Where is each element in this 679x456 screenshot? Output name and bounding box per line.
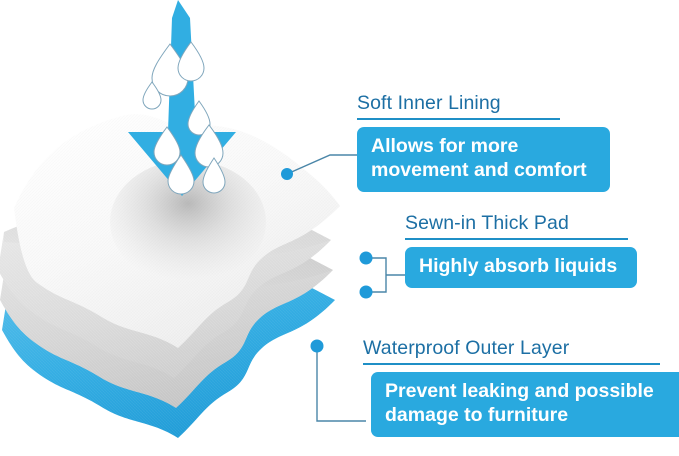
connector-dot bbox=[360, 286, 373, 299]
callout-heading-soft-inner-lining: Soft Inner Lining bbox=[357, 92, 610, 118]
callout-waterproof-outer-layer: Waterproof Outer Layer Prevent leaking a… bbox=[363, 337, 679, 437]
connector-dot bbox=[360, 252, 373, 265]
callout-sewn-in-thick-pad: Sewn-in Thick Pad Highly absorb liquids bbox=[405, 212, 637, 288]
callout-heading-sewn-in-thick-pad: Sewn-in Thick Pad bbox=[405, 212, 637, 238]
callout-box-sewn-in-thick-pad: Highly absorb liquids bbox=[405, 247, 637, 288]
callout-soft-inner-lining: Soft Inner Lining Allows for more moveme… bbox=[357, 92, 610, 192]
infographic-canvas: Soft Inner Lining Allows for more moveme… bbox=[0, 0, 679, 456]
callout-body-line: damage to furniture bbox=[385, 404, 675, 428]
callout-underline bbox=[357, 118, 560, 120]
fabric-layer-stack-illustration bbox=[0, 0, 360, 456]
callout-underline bbox=[405, 238, 628, 240]
callout-box-waterproof-outer-layer: Prevent leaking and possible damage to f… bbox=[371, 372, 679, 437]
callout-underline bbox=[363, 363, 660, 365]
callout-body-line: Prevent leaking and possible bbox=[385, 380, 675, 404]
callout-box-soft-inner-lining: Allows for more movement and comfort bbox=[357, 127, 610, 192]
callout-heading-waterproof-outer-layer: Waterproof Outer Layer bbox=[363, 337, 679, 363]
connector-sewn-in-thick-pad bbox=[360, 252, 408, 299]
callout-body-line: Allows for more bbox=[371, 135, 598, 159]
callout-body-line: movement and comfort bbox=[371, 159, 598, 183]
callout-body-line: Highly absorb liquids bbox=[419, 255, 625, 279]
